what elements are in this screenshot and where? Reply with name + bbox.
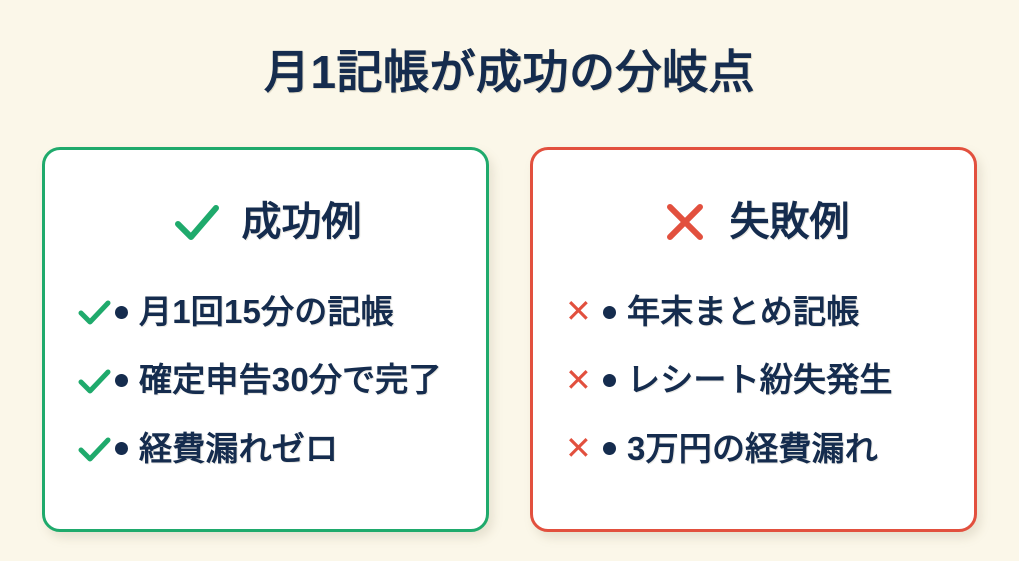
list-item: 経費漏れゼロ bbox=[77, 425, 460, 473]
list-item-label: 確定申告30分で完了 bbox=[139, 362, 442, 398]
cross-icon bbox=[658, 195, 712, 249]
bullet-dot bbox=[603, 306, 616, 319]
cross-icon: ✕ bbox=[565, 297, 601, 327]
slide: 月1記帳が成功の分岐点 成功例 bbox=[0, 0, 1019, 561]
bullet-dot bbox=[603, 374, 616, 387]
list-item: ✕ 年末まとめ記帳 bbox=[565, 288, 948, 336]
failure-card-header: 失敗例 bbox=[559, 176, 948, 268]
check-icon bbox=[77, 297, 113, 327]
check-icon bbox=[170, 195, 224, 249]
list-item: 確定申告30分で完了 bbox=[77, 357, 460, 405]
list-item-label: 年末まとめ記帳 bbox=[627, 294, 859, 330]
list-item-label: 月1回15分の記帳 bbox=[139, 294, 394, 330]
success-card-title: 成功例 bbox=[242, 202, 362, 242]
list-item: ✕ レシート紛失発生 bbox=[565, 357, 948, 405]
success-card: 成功例 月1回15分の記帳 bbox=[42, 147, 489, 532]
failure-card-title: 失敗例 bbox=[730, 202, 850, 242]
failure-card: 失敗例 ✕ 年末まとめ記帳 ✕ レシート紛失発生 bbox=[530, 147, 977, 532]
cross-icon: ✕ bbox=[565, 366, 601, 396]
bullet-dot bbox=[115, 442, 128, 455]
cross-icon: ✕ bbox=[565, 434, 601, 464]
failure-item-list: ✕ 年末まとめ記帳 ✕ レシート紛失発生 ✕ bbox=[559, 268, 948, 507]
bullet-dot bbox=[115, 374, 128, 387]
list-item: ✕ 3万円の経費漏れ bbox=[565, 425, 948, 473]
list-item-label: レシート紛失発生 bbox=[627, 362, 893, 398]
list-item-label: 3万円の経費漏れ bbox=[627, 431, 878, 467]
bullet-dot bbox=[115, 306, 128, 319]
success-card-header: 成功例 bbox=[71, 176, 460, 268]
bullet-dot bbox=[603, 442, 616, 455]
check-icon bbox=[77, 366, 113, 396]
list-item: 月1回15分の記帳 bbox=[77, 288, 460, 336]
success-item-list: 月1回15分の記帳 確定申告30分で完了 bbox=[71, 268, 460, 507]
comparison-cards: 成功例 月1回15分の記帳 bbox=[42, 147, 977, 532]
check-icon bbox=[77, 434, 113, 464]
list-item-label: 経費漏れゼロ bbox=[139, 431, 338, 467]
page-title: 月1記帳が成功の分岐点 bbox=[0, 36, 1019, 102]
